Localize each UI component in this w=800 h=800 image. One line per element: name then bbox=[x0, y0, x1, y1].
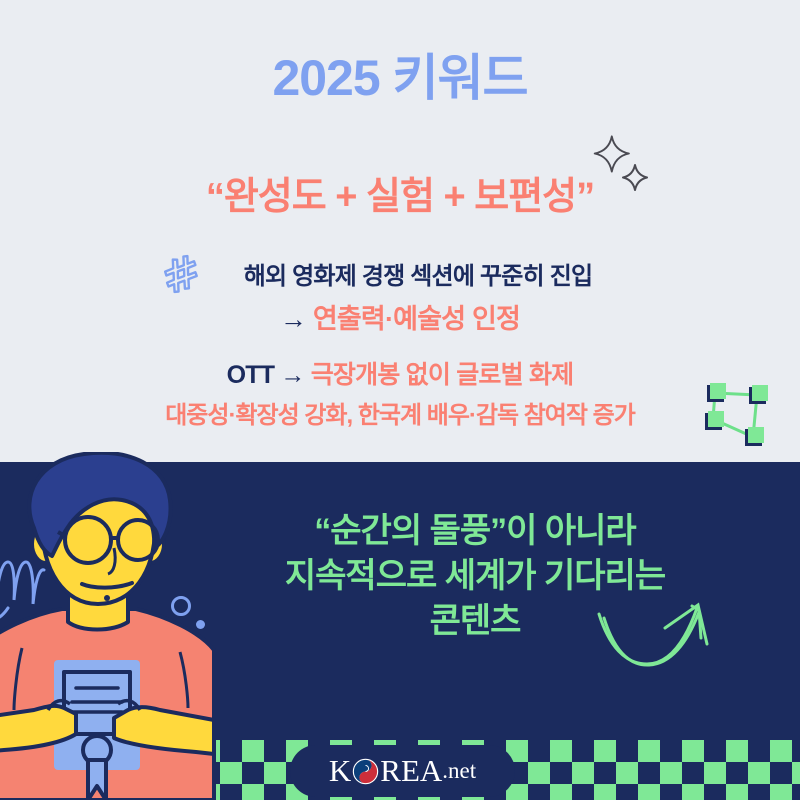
festival-line1: 해외 영화제 경쟁 섹션에 꾸준히 진입 bbox=[0, 256, 800, 291]
arrow-glyph-1: → bbox=[280, 304, 313, 334]
top-panel: 2025 키워드 “완성도 + 실험 + 보편성” 해외 영화제 경쟁 섹션에 … bbox=[0, 0, 800, 462]
festival-line2-text: 연출력·예술성 인정 bbox=[313, 304, 520, 334]
growth-arrow-icon bbox=[595, 592, 725, 672]
festival-statement: 해외 영화제 경쟁 섹션에 꾸준히 진입 → 연출력·예술성 인정 bbox=[0, 256, 800, 336]
festival-line2: → 연출력·예술성 인정 bbox=[0, 297, 800, 336]
person-with-award-illustration bbox=[0, 452, 220, 800]
logo-suffix-net: .net bbox=[442, 758, 476, 784]
korea-net-logo[interactable]: K REA .net bbox=[290, 745, 515, 797]
logo-letter-k: K bbox=[329, 753, 351, 789]
taegeuk-icon bbox=[352, 758, 379, 785]
ott-line1: OTT → 극장개봉 없이 글로벌 화제 bbox=[0, 355, 800, 391]
arrow-glyph-2: → bbox=[280, 361, 310, 389]
logo-wordmark: K REA .net bbox=[329, 753, 476, 789]
logo-letters-rea: REA bbox=[380, 753, 442, 789]
ott-line2: 대중성·확장성 강화, 한국계 배우·감독 참여작 증가 bbox=[0, 395, 800, 430]
sparkles-icon bbox=[585, 125, 665, 205]
ott-line1-text: 극장개봉 없이 글로벌 화제 bbox=[311, 361, 574, 389]
closing-line1: “순간의 돌풍”이 아니라 bbox=[150, 509, 800, 554]
page-title: 2025 키워드 bbox=[0, 38, 800, 110]
ott-label: OTT bbox=[227, 361, 281, 389]
ott-statement: OTT → 극장개봉 없이 글로벌 화제 대중성·확장성 강화, 한국계 배우·… bbox=[0, 355, 800, 430]
keyword-quote: “완성도 + 실험 + 보편성” bbox=[0, 165, 800, 220]
infographic-canvas: 2025 키워드 “완성도 + 실험 + 보편성” 해외 영화제 경쟁 섹션에 … bbox=[0, 0, 800, 800]
constellation-icon bbox=[695, 375, 781, 453]
